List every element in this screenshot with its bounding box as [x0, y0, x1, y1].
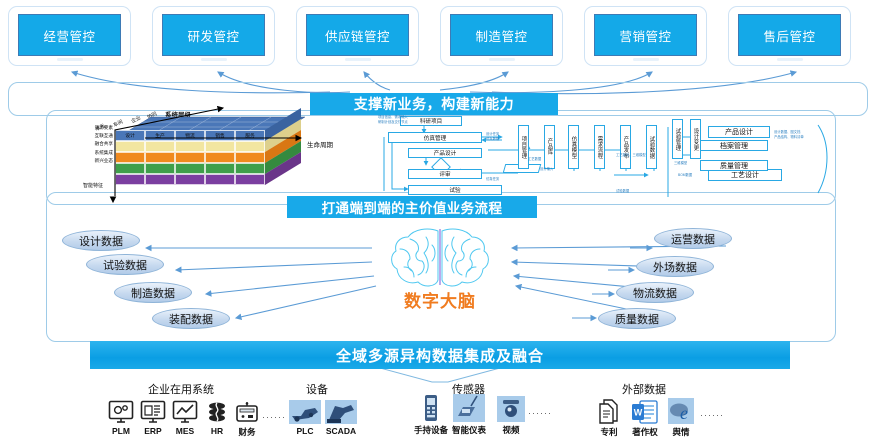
- flow-note-9: 产品结构、物料清单: [774, 135, 804, 139]
- monitor-label-1: 研发管控: [162, 14, 265, 56]
- svg-text:W: W: [634, 408, 643, 418]
- pill-manufacture-data[interactable]: 制造数据: [114, 282, 192, 303]
- flow-vbox-trial-data[interactable]: 试验数据: [646, 125, 657, 169]
- smart-manufacturing-cube: 资源要素 互联互通 融合共享 系统集成 新兴业态 智能特征 单元 车间 企业 协…: [55, 112, 315, 197]
- flow-note-7: 三维模型: [674, 161, 687, 165]
- source-group-title-0: 企业在用系统: [148, 381, 214, 397]
- flow-note-11: BOM数据: [678, 173, 692, 177]
- source-ellipsis-2: ······: [528, 408, 552, 418]
- monitor-card-2[interactable]: 供应链管控: [296, 6, 419, 66]
- monitor-label-3: 制造管控: [450, 14, 553, 56]
- machine-icon: [288, 396, 322, 424]
- monitor-document-icon: [136, 396, 170, 424]
- source-item-finance[interactable]: 财务: [230, 396, 264, 438]
- calculator-icon: [230, 396, 264, 424]
- flow-box-product-design-2[interactable]: 产品设计: [708, 126, 770, 138]
- monitor-chart-icon: [168, 396, 202, 424]
- flow-box-trial[interactable]: 试验: [408, 185, 502, 195]
- monitor-label-2: 供应链管控: [306, 14, 409, 56]
- flow-note-3: 仿真数据: [486, 137, 499, 141]
- source-caption-scada: SCADA: [324, 426, 358, 436]
- source-caption-video: 视频: [494, 424, 528, 436]
- monitor-gear-icon: [104, 396, 138, 424]
- source-group-title-1: 设备: [306, 381, 328, 397]
- cube-axis-arrows: [105, 116, 315, 202]
- source-item-patent[interactable]: 专利: [592, 396, 626, 438]
- source-item-smart-meter[interactable]: 智能仪表: [452, 394, 486, 436]
- flow-note-10: 工艺路线、三维模型: [616, 153, 646, 157]
- word-doc-icon: W: [628, 396, 662, 424]
- flow-note-12: 工艺数据: [528, 157, 541, 161]
- flow-note-2: 设计任务: [486, 132, 499, 136]
- camera-icon: [494, 394, 528, 422]
- source-caption-public-opinion: 舆情: [664, 426, 698, 438]
- flow-vbox-product-library[interactable]: 产品库: [544, 125, 555, 169]
- pill-logistics-data[interactable]: 物流数据: [616, 282, 694, 303]
- source-caption-handheld: 手持设备: [414, 424, 448, 436]
- monitor-card-3[interactable]: 制造管控: [440, 6, 563, 66]
- flow-vbox-requirement-flow[interactable]: 需求流程: [594, 125, 605, 169]
- source-item-public-opinion[interactable]: e 舆情: [664, 396, 698, 438]
- documents-icon: [592, 396, 626, 424]
- source-item-plm[interactable]: PLM: [104, 396, 138, 436]
- source-caption-finance: 财务: [230, 426, 264, 438]
- monitor-card-1[interactable]: 研发管控: [152, 6, 275, 66]
- cube-right-axis-title: 生命周期: [307, 139, 333, 149]
- source-caption-hr: HR: [200, 426, 234, 436]
- banner-data-integration: 全域多源异构数据集成及融合: [90, 341, 790, 369]
- flow-note-8: 设计数据、图文档: [774, 130, 800, 134]
- source-item-mes[interactable]: MES: [168, 396, 202, 436]
- digital-brain-label: 数字大脑: [370, 287, 510, 312]
- flow-box-research-project[interactable]: 科研项目: [400, 116, 462, 126]
- source-item-hr[interactable]: HR: [200, 396, 234, 436]
- diagram-canvas: 经营管控 研发管控 供应链管控 制造管控 营销管控 售后管控: [0, 0, 877, 446]
- flow-note-1: 研制计划及交付节点: [378, 120, 408, 124]
- digital-brain-group: 数字大脑: [370, 225, 510, 320]
- flow-vbox-simulation-model[interactable]: 仿真模型: [568, 125, 579, 169]
- flow-box-product-design[interactable]: 产品设计: [408, 148, 482, 158]
- pill-operation-data[interactable]: 运营数据: [654, 228, 732, 249]
- source-group-title-3: 外部数据: [622, 381, 666, 397]
- smart-meter-icon: [452, 394, 486, 422]
- flow-box-review[interactable]: 评审: [408, 169, 482, 179]
- monitor-label-0: 经营管控: [18, 14, 121, 56]
- flow-note-5: 设计输入: [540, 167, 553, 171]
- monitor-card-0[interactable]: 经营管控: [8, 6, 131, 66]
- source-item-plc[interactable]: PLC: [288, 396, 322, 436]
- flow-box-simulation-mgmt[interactable]: 仿真管理: [388, 132, 482, 143]
- flow-box-quality-mgmt[interactable]: 质量管理: [700, 160, 768, 171]
- source-item-video[interactable]: 视频: [494, 394, 528, 436]
- source-caption-plc: PLC: [288, 426, 322, 436]
- funnel-connector: [380, 368, 500, 382]
- banner-end-to-end-process: 打通端到端的主价值业务流程: [287, 196, 537, 218]
- flow-vbox-product-release[interactable]: 产品发布: [620, 125, 631, 169]
- flow-vbox-design-change[interactable]: 设计变更: [690, 119, 701, 159]
- brain-icon: [370, 225, 510, 291]
- source-caption-patent: 专利: [592, 426, 626, 438]
- rnd-process-flowchart: 科研项目 仿真管理 产品设计 评审 试验 项目管理 产品库 仿真模型 需求流程 …: [378, 113, 833, 201]
- source-caption-smart-meter: 智能仪表: [452, 424, 486, 436]
- source-caption-plm: PLM: [104, 426, 138, 436]
- monitor-label-5: 售后管控: [738, 14, 841, 56]
- flow-note-4: 仿真任务: [486, 177, 499, 181]
- monitor-card-5[interactable]: 售后管控: [728, 6, 851, 66]
- pill-assembly-data[interactable]: 装配数据: [152, 308, 230, 329]
- flow-vbox-trial-mgmt[interactable]: 试验管理: [672, 119, 683, 159]
- banner-support-new-business: 支撑新业务，构建新能力: [310, 93, 558, 115]
- pill-quality-data[interactable]: 质量数据: [598, 308, 676, 329]
- source-ellipsis-0: ······: [262, 412, 286, 422]
- pill-design-data[interactable]: 设计数据: [62, 230, 140, 251]
- robot-arm-icon: [324, 396, 358, 424]
- flow-box-archive-mgmt[interactable]: 档案管理: [700, 140, 768, 151]
- source-caption-copyright: 著作权: [628, 426, 662, 438]
- people-stack-icon: [200, 396, 234, 424]
- source-ellipsis-3: ······: [700, 410, 724, 420]
- source-item-handheld[interactable]: 手持设备: [414, 394, 448, 436]
- source-item-copyright[interactable]: W 著作权: [628, 396, 662, 438]
- cube-left-axis-title: 智能特征: [83, 182, 103, 189]
- pill-field-data[interactable]: 外场数据: [636, 256, 714, 277]
- handheld-device-icon: [414, 394, 448, 422]
- source-item-scada[interactable]: SCADA: [324, 396, 358, 436]
- monitor-card-4[interactable]: 营销管控: [584, 6, 707, 66]
- source-caption-mes: MES: [168, 426, 202, 436]
- monitor-label-4: 营销管控: [594, 14, 697, 56]
- flow-note-6: 试验数据: [616, 189, 629, 193]
- flow-note-0: 项目信息、需求输入: [378, 115, 408, 119]
- svg-text:e: e: [680, 403, 688, 423]
- pill-test-data[interactable]: 试验数据: [86, 254, 164, 275]
- source-caption-erp: ERP: [136, 426, 170, 436]
- browser-e-icon: e: [664, 396, 698, 424]
- flow-vbox-project-mgmt[interactable]: 项目管理: [518, 125, 529, 169]
- source-item-erp[interactable]: ERP: [136, 396, 170, 436]
